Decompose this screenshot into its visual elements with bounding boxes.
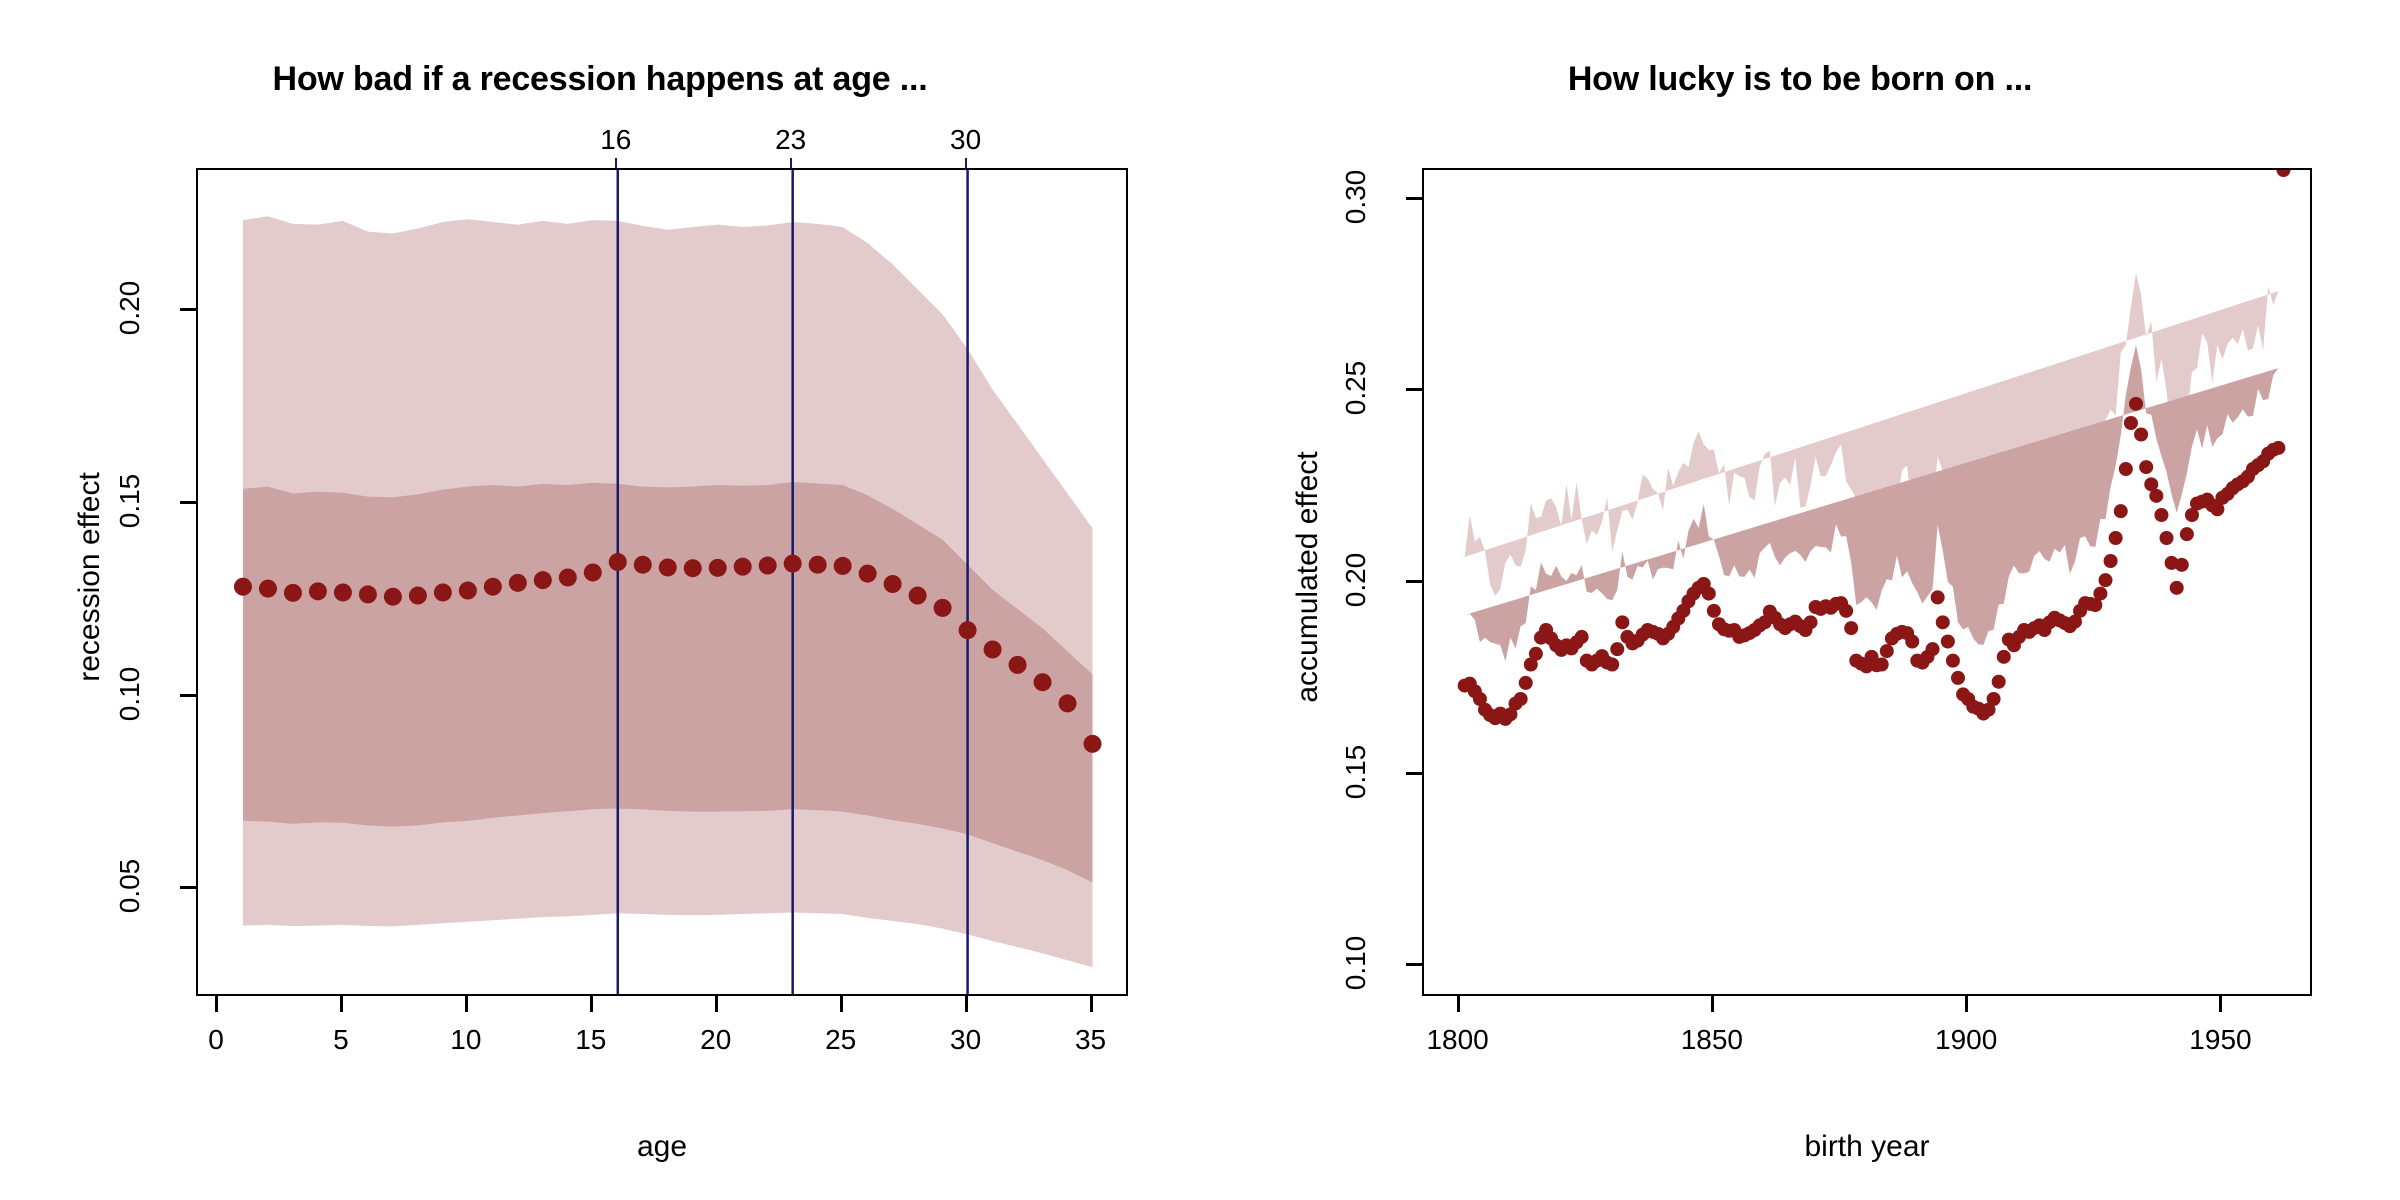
panel-recession-effect: How bad if a recession happens at age ..… — [0, 0, 1200, 1200]
top-tick-mark — [615, 158, 617, 168]
x-tick-label: 10 — [406, 1024, 526, 1056]
left-plot-area — [196, 168, 1128, 996]
y-tick-label: 0.20 — [1340, 530, 1372, 630]
right-plot-area — [1422, 168, 2312, 996]
x-tick-mark — [715, 996, 718, 1012]
x-tick-label: 1950 — [2160, 1024, 2280, 1056]
y-tick-label: 0.20 — [114, 258, 146, 358]
x-tick-mark — [1090, 996, 1093, 1012]
right-x-axis-title: birth year — [1422, 1130, 2312, 1164]
y-tick-mark — [180, 308, 196, 311]
x-tick-mark — [465, 996, 468, 1012]
y-tick-mark — [180, 501, 196, 504]
right-y-axis-title: accumulated effect — [1291, 417, 1325, 737]
x-tick-label: 25 — [781, 1024, 901, 1056]
top-axis-label: 23 — [741, 124, 841, 156]
top-axis-label: 30 — [916, 124, 1016, 156]
x-tick-label: 30 — [906, 1024, 1026, 1056]
x-tick-mark — [215, 996, 218, 1012]
x-tick-label: 0 — [156, 1024, 276, 1056]
left-x-axis-title: age — [196, 1130, 1128, 1164]
x-tick-label: 5 — [281, 1024, 401, 1056]
y-tick-label: 0.05 — [114, 836, 146, 936]
x-tick-mark — [840, 996, 843, 1012]
y-tick-mark — [1406, 388, 1422, 391]
right-plot-title: How lucky is to be born on ... — [1200, 60, 2400, 99]
y-tick-mark — [1406, 580, 1422, 583]
y-tick-label: 0.25 — [1340, 338, 1372, 438]
x-tick-mark — [1965, 996, 1968, 1012]
y-tick-label: 0.30 — [1340, 147, 1372, 247]
x-tick-mark — [340, 996, 343, 1012]
x-tick-label: 35 — [1031, 1024, 1151, 1056]
x-tick-label: 1900 — [1906, 1024, 2026, 1056]
left-plot-title: How bad if a recession happens at age ..… — [0, 60, 1200, 99]
figure-canvas: How bad if a recession happens at age ..… — [0, 0, 2400, 1200]
right-plot-svg — [1424, 170, 2312, 996]
x-tick-mark — [590, 996, 593, 1012]
y-tick-mark — [1406, 197, 1422, 200]
top-tick-mark — [965, 158, 967, 168]
top-axis-label: 16 — [566, 124, 666, 156]
x-tick-label: 20 — [656, 1024, 776, 1056]
y-tick-mark — [180, 694, 196, 697]
x-tick-mark — [965, 996, 968, 1012]
x-tick-mark — [1711, 996, 1714, 1012]
x-tick-mark — [2219, 996, 2222, 1012]
y-tick-mark — [1406, 772, 1422, 775]
x-tick-mark — [1457, 996, 1460, 1012]
x-tick-label: 1800 — [1398, 1024, 1518, 1056]
top-tick-mark — [790, 158, 792, 168]
x-tick-label: 1850 — [1652, 1024, 1772, 1056]
y-tick-mark — [1406, 963, 1422, 966]
x-tick-label: 15 — [531, 1024, 651, 1056]
left-plot-svg — [198, 170, 1128, 996]
left-y-axis-title: recession effect — [73, 427, 107, 727]
y-tick-label: 0.15 — [114, 451, 146, 551]
panel-accumulated-effect: How lucky is to be born on ... accumulat… — [1200, 0, 2400, 1200]
y-tick-label: 0.10 — [114, 644, 146, 744]
y-tick-label: 0.15 — [1340, 722, 1372, 822]
y-tick-mark — [180, 886, 196, 889]
y-tick-label: 0.10 — [1340, 913, 1372, 1013]
